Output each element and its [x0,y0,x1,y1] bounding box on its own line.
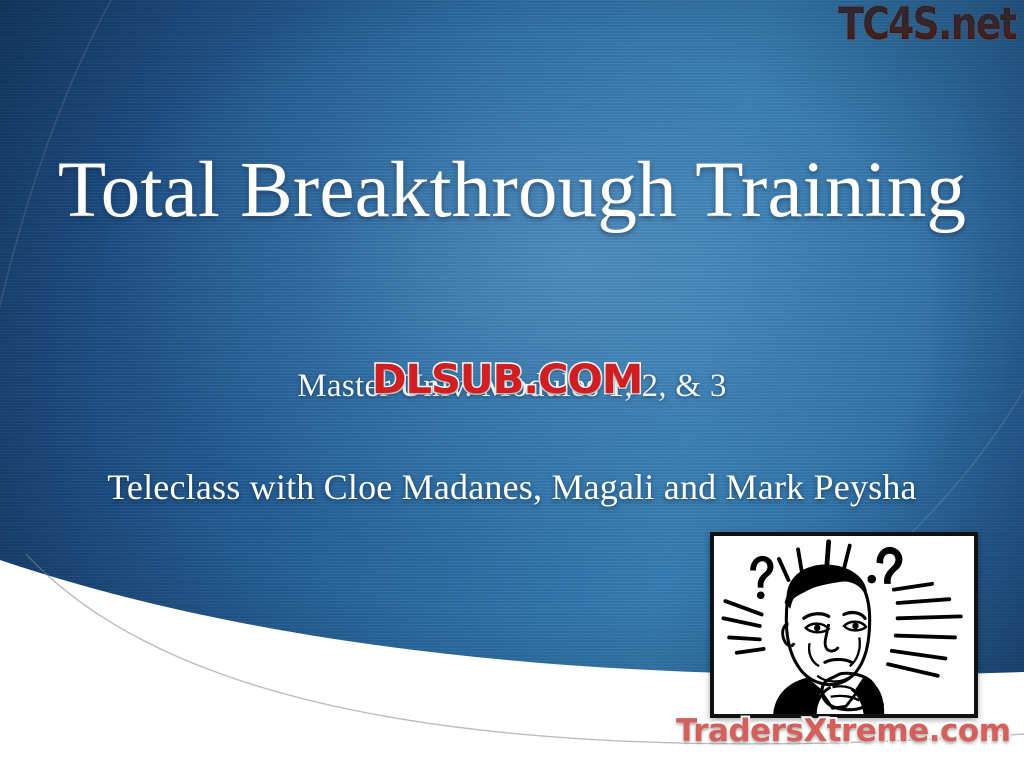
page-title: Total Breakthrough Training [0,150,1024,231]
watermark-dlsub: DLSUB.COM [372,360,642,400]
thinking-man-image [710,532,978,718]
tradersxtreme-logo[interactable]: TradersXtreme.com [676,716,1011,747]
thinking-man-illustration [714,536,974,714]
title-block: Total Breakthrough Training [0,150,1024,231]
presenters-line: Teleclass with Cloe Madanes, Magali and … [0,466,1024,508]
presentation-slide: Total Breakthrough Training Master Univ.… [0,0,1024,768]
tc4s-logo[interactable]: TC4S.net [838,2,1016,47]
